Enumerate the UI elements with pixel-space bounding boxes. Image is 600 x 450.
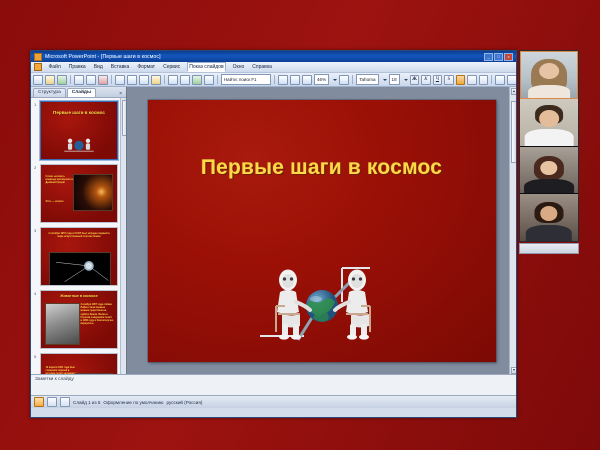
save-icon[interactable] <box>57 75 67 85</box>
help-icon[interactable] <box>339 75 349 85</box>
list-item[interactable]: 2 Слово «космос» впервые прозвучало в Др… <box>34 164 124 223</box>
slide-number: 1 <box>34 101 38 107</box>
window-controls: _ □ × <box>484 53 513 61</box>
scrollbar-thumb[interactable] <box>122 100 127 136</box>
color-fill-icon[interactable] <box>302 75 312 85</box>
list-item[interactable]: 4 Животные в космосе 3 ноября 1957 года … <box>34 290 124 349</box>
thumbnail-picture <box>75 373 113 374</box>
document-icon <box>34 63 42 71</box>
close-pane-icon[interactable]: × <box>119 91 124 97</box>
copy-icon[interactable] <box>127 75 137 85</box>
font-name-combo[interactable]: Tahoma <box>356 74 378 85</box>
thumbnail-body: Слово «космос» впервые прозвучало в Древ… <box>46 175 73 184</box>
list-item[interactable]: 3 4 октября 1957 года в СССР был запущен… <box>34 227 124 286</box>
grid-icon[interactable] <box>290 75 300 85</box>
thumbnail-body: 3 ноября 1957 года собака Лайка стала пе… <box>81 303 114 325</box>
filmstrip-toolbar[interactable] <box>519 243 579 254</box>
pane-tabs: Структура Слайды × <box>31 87 126 98</box>
slide-number: 4 <box>34 290 38 296</box>
search-shortcut: F1 <box>251 77 256 82</box>
normal-view-button[interactable] <box>34 397 44 407</box>
slide-canvas-pane[interactable]: Первые шаги в космос <box>127 87 516 374</box>
thumbnail-body: 12 апреля 1961 года был совершён первый … <box>46 366 78 374</box>
status-bar: Слайд 1 из 5 Оформление по умолчанию рус… <box>31 395 516 408</box>
print-preview-icon[interactable] <box>86 75 96 85</box>
thumbnail-title: Животные в космосе <box>46 294 113 298</box>
participant-video-2[interactable] <box>520 99 578 147</box>
font-size-value: 18 <box>392 77 397 82</box>
font-size-combo[interactable]: 18 <box>389 74 400 85</box>
participant-video-1[interactable] <box>520 51 578 99</box>
open-folder-icon[interactable] <box>45 75 55 85</box>
canvas-scrollbar[interactable]: ▲ ▼ <box>509 87 516 374</box>
scrollbar-thumb[interactable] <box>511 101 518 163</box>
toolbar-row: Найти: поиск F1 46% Tahoma 18 Ж К Ч S <box>31 73 516 87</box>
redo-icon[interactable] <box>180 75 190 85</box>
window-title: Microsoft PowerPoint - [Первые шаги в ко… <box>45 54 481 60</box>
thumbnail-body: 4 октября 1957 года в СССР был запущен п… <box>47 232 111 238</box>
status-design-name: Оформление по умолчанию <box>103 400 163 405</box>
search-box[interactable]: Найти: поиск F1 <box>221 74 271 85</box>
slide-sorter-view-button[interactable] <box>47 397 57 407</box>
align-right-button[interactable] <box>479 75 489 85</box>
zoom-value: 46% <box>317 77 326 82</box>
numbered-list-icon[interactable] <box>507 75 517 85</box>
menu-item-window[interactable]: Окно <box>231 63 246 71</box>
clipart-two-people-globe[interactable] <box>258 262 386 346</box>
thumbnail-picture <box>45 303 80 345</box>
list-item[interactable]: 1 Первые шаги в космос <box>34 101 124 160</box>
tab-slides[interactable]: Слайды <box>67 88 96 97</box>
close-button[interactable]: × <box>504 53 513 61</box>
menu-item-tools[interactable]: Сервис <box>162 63 182 71</box>
minimize-button[interactable]: _ <box>484 53 493 61</box>
powerpoint-window: Microsoft PowerPoint - [Первые шаги в ко… <box>30 50 517 418</box>
maximize-button[interactable]: □ <box>494 53 503 61</box>
menu-item-slideshow[interactable]: Показ слайдов <box>187 62 226 72</box>
drawing-icon[interactable] <box>278 75 288 85</box>
slide-thumbnail-list[interactable]: 1 Первые шаги в космос 2 <box>31 98 126 374</box>
toolbar-separator <box>274 75 275 84</box>
insert-chart-icon[interactable] <box>192 75 202 85</box>
new-file-icon[interactable] <box>33 75 43 85</box>
participant-video-3[interactable] <box>520 147 578 195</box>
participant-video-4[interactable] <box>520 194 578 241</box>
spellcheck-icon[interactable] <box>98 75 108 85</box>
menu-item-view[interactable]: Вид <box>92 63 104 71</box>
thumbnail-scrollbar[interactable] <box>120 98 126 374</box>
print-icon[interactable] <box>74 75 84 85</box>
thumbnail-caption: ХХ в. — космос <box>46 200 73 203</box>
toolbar-separator <box>164 75 165 84</box>
italic-button[interactable]: К <box>421 75 431 85</box>
underline-button[interactable]: Ч <box>433 75 443 85</box>
menu-item-format[interactable]: Формат <box>136 63 157 71</box>
slides-pane: Структура Слайды × 1 Первые шаги в космо… <box>31 87 127 374</box>
scroll-up-icon[interactable]: ▲ <box>511 88 518 95</box>
slide-title-text[interactable]: Первые шаги в космос <box>175 155 467 182</box>
text-shadow-button[interactable]: S <box>444 75 454 85</box>
bullet-list-icon[interactable] <box>495 75 505 85</box>
status-language: русский (Россия) <box>166 400 202 405</box>
powerpoint-icon <box>34 53 42 61</box>
format-painter-icon[interactable] <box>151 75 161 85</box>
slide-thumbnail-5[interactable]: 12 апреля 1961 года был совершён первый … <box>40 353 118 374</box>
menu-item-edit[interactable]: Правка <box>67 63 87 71</box>
toolbar-separator <box>111 75 112 84</box>
slide-thumbnail-2[interactable]: Слово «космос» впервые прозвучало в Древ… <box>40 164 118 223</box>
slideshow-view-button[interactable] <box>60 397 70 407</box>
menu-item-help[interactable]: Справка <box>251 63 274 71</box>
video-conference-filmstrip <box>519 50 579 242</box>
toolbar-separator <box>491 75 492 84</box>
insert-table-icon[interactable] <box>204 75 214 85</box>
tab-outline[interactable]: Структура <box>33 88 66 97</box>
menu-item-insert[interactable]: Вставка <box>109 63 131 71</box>
paste-icon[interactable] <box>139 75 149 85</box>
thumbnail-clipart <box>62 135 96 155</box>
sputnik-icon <box>50 253 111 285</box>
chevron-down-icon[interactable] <box>333 79 337 81</box>
toolbar-separator <box>70 75 71 84</box>
align-left-button[interactable] <box>456 75 466 85</box>
notes-placeholder: Заметки к слайду <box>35 377 74 382</box>
window-titlebar: Microsoft PowerPoint - [Первые шаги в ко… <box>31 51 516 62</box>
status-slide-indicator: Слайд 1 из 5 <box>73 400 100 405</box>
slide-number: 2 <box>34 164 38 170</box>
toolbar-separator <box>352 75 353 84</box>
chevron-down-icon[interactable] <box>404 79 408 81</box>
slide-thumbnail-1[interactable]: Первые шаги в космос <box>40 101 118 160</box>
work-area: Структура Слайды × 1 Первые шаги в космо… <box>31 87 516 374</box>
thumbnail-title: Первые шаги в космос <box>46 110 113 116</box>
thumbnail-picture <box>49 252 112 286</box>
list-item[interactable]: 5 12 апреля 1961 года был совершён первы… <box>34 353 124 374</box>
slide-number: 3 <box>34 227 38 233</box>
slide-thumbnail-4[interactable]: Животные в космосе 3 ноября 1957 года со… <box>40 290 118 349</box>
menu-item-file[interactable]: Файл <box>47 63 62 71</box>
align-center-button[interactable] <box>467 75 477 85</box>
toolbar-separator <box>217 75 218 84</box>
notes-pane[interactable]: Заметки к слайду <box>31 374 516 395</box>
slide-thumbnail-3[interactable]: 4 октября 1957 года в СССР был запущен п… <box>40 227 118 286</box>
thumbnail-picture <box>73 174 113 211</box>
zoom-combo[interactable]: 46% <box>314 74 329 85</box>
undo-icon[interactable] <box>168 75 178 85</box>
search-label: Найти: поиск <box>224 77 250 82</box>
scroll-down-icon[interactable]: ▼ <box>511 367 518 374</box>
cut-icon[interactable] <box>115 75 125 85</box>
chevron-down-icon[interactable] <box>383 79 387 81</box>
menu-bar: Файл Правка Вид Вставка Формат Сервис По… <box>31 62 516 73</box>
bold-button[interactable]: Ж <box>410 75 420 85</box>
font-name-value: Tahoma <box>359 77 375 82</box>
slide-number: 5 <box>34 353 38 359</box>
slide-canvas[interactable]: Первые шаги в космос <box>148 100 496 362</box>
